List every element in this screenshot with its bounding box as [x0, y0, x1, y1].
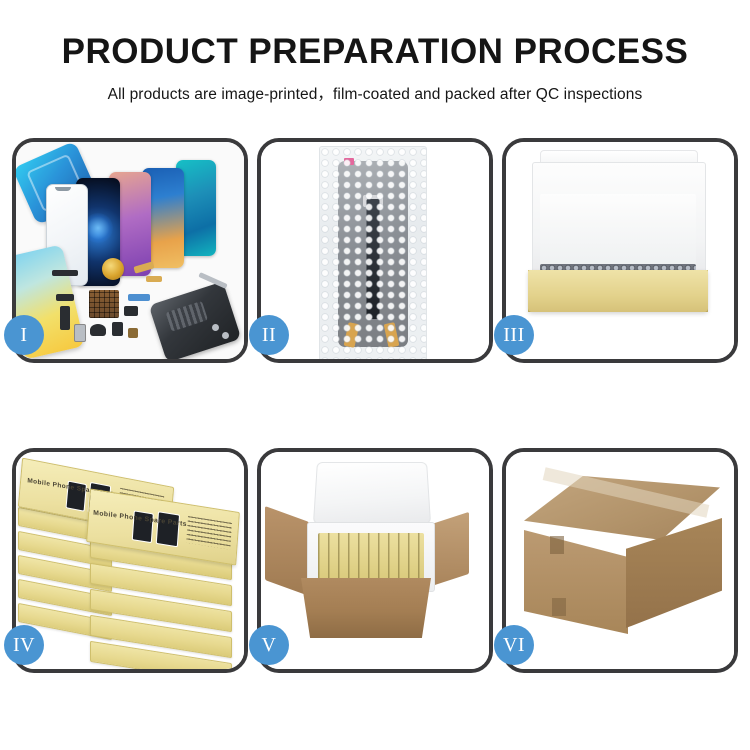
yellow-boxes-inside: [318, 533, 424, 583]
chip-array: [89, 290, 119, 318]
photo-screen-in-bubble-wrap: [261, 142, 489, 359]
box-stack: Mobile Phone Spare Parts Mobile Phone Sp…: [16, 470, 244, 660]
photo-open-yellow-tray-box: [506, 142, 734, 359]
process-step-panel-5[interactable]: V: [257, 448, 493, 673]
step-badge-3: III: [494, 315, 534, 355]
printed-spec-lines: [186, 516, 232, 550]
spare-part: [60, 306, 70, 330]
lcd-screen-assembly: [338, 161, 408, 347]
process-step-panel-1[interactable]: I: [12, 138, 248, 363]
photo-carton-with-foam-insert: [261, 452, 489, 669]
photo-sealed-shipping-carton: [506, 452, 734, 669]
page-header: PRODUCT PREPARATION PROCESS All products…: [0, 0, 750, 104]
step-badge-1: I: [4, 315, 44, 355]
yellow-tape: [384, 322, 400, 348]
pink-label-sticker: [344, 158, 354, 165]
spare-part: [90, 324, 106, 336]
photo-stacked-retail-boxes: Mobile Phone Spare Parts Mobile Phone Sp…: [16, 452, 244, 669]
carton-body: [301, 578, 431, 638]
page-subtitle: All products are image-printed，film-coat…: [0, 82, 750, 104]
step-badge-6: VI: [494, 625, 534, 665]
foam-lid: [313, 462, 431, 524]
spare-part: [128, 328, 138, 338]
bubble-wrap-bag: [319, 146, 427, 359]
step-badge-5: V: [249, 625, 289, 665]
process-step-panel-3[interactable]: III: [502, 138, 738, 363]
yellow-tape: [344, 322, 360, 348]
carton-seam: [550, 536, 564, 554]
step-badge-2: II: [249, 315, 289, 355]
spare-part: [52, 270, 78, 276]
process-step-panel-4[interactable]: Mobile Phone Spare Parts Mobile Phone Sp…: [12, 448, 248, 673]
printed-phone-image: [156, 511, 180, 547]
photo-phone-screens-and-spare-parts: [16, 142, 244, 359]
spare-part: [124, 306, 138, 316]
screw: [222, 332, 229, 339]
screw: [212, 324, 219, 331]
page-title: PRODUCT PREPARATION PROCESS: [0, 34, 750, 71]
wireless-charging-coil: [102, 258, 124, 280]
yellow-box-tray: [528, 270, 708, 312]
process-step-grid: I II III: [12, 138, 738, 673]
spare-part: [146, 276, 162, 282]
step-badge-4: IV: [4, 625, 44, 665]
spare-part: [74, 324, 86, 342]
spare-part: [112, 322, 123, 336]
carton-seam: [552, 598, 566, 616]
flex-connector: [363, 195, 383, 207]
white-foam-sheet: [540, 194, 696, 272]
spare-part: [56, 294, 74, 301]
process-step-panel-6[interactable]: VI: [502, 448, 738, 673]
flex-cable: [367, 199, 380, 319]
process-step-panel-2[interactable]: II: [257, 138, 493, 363]
spare-part: [128, 294, 150, 301]
